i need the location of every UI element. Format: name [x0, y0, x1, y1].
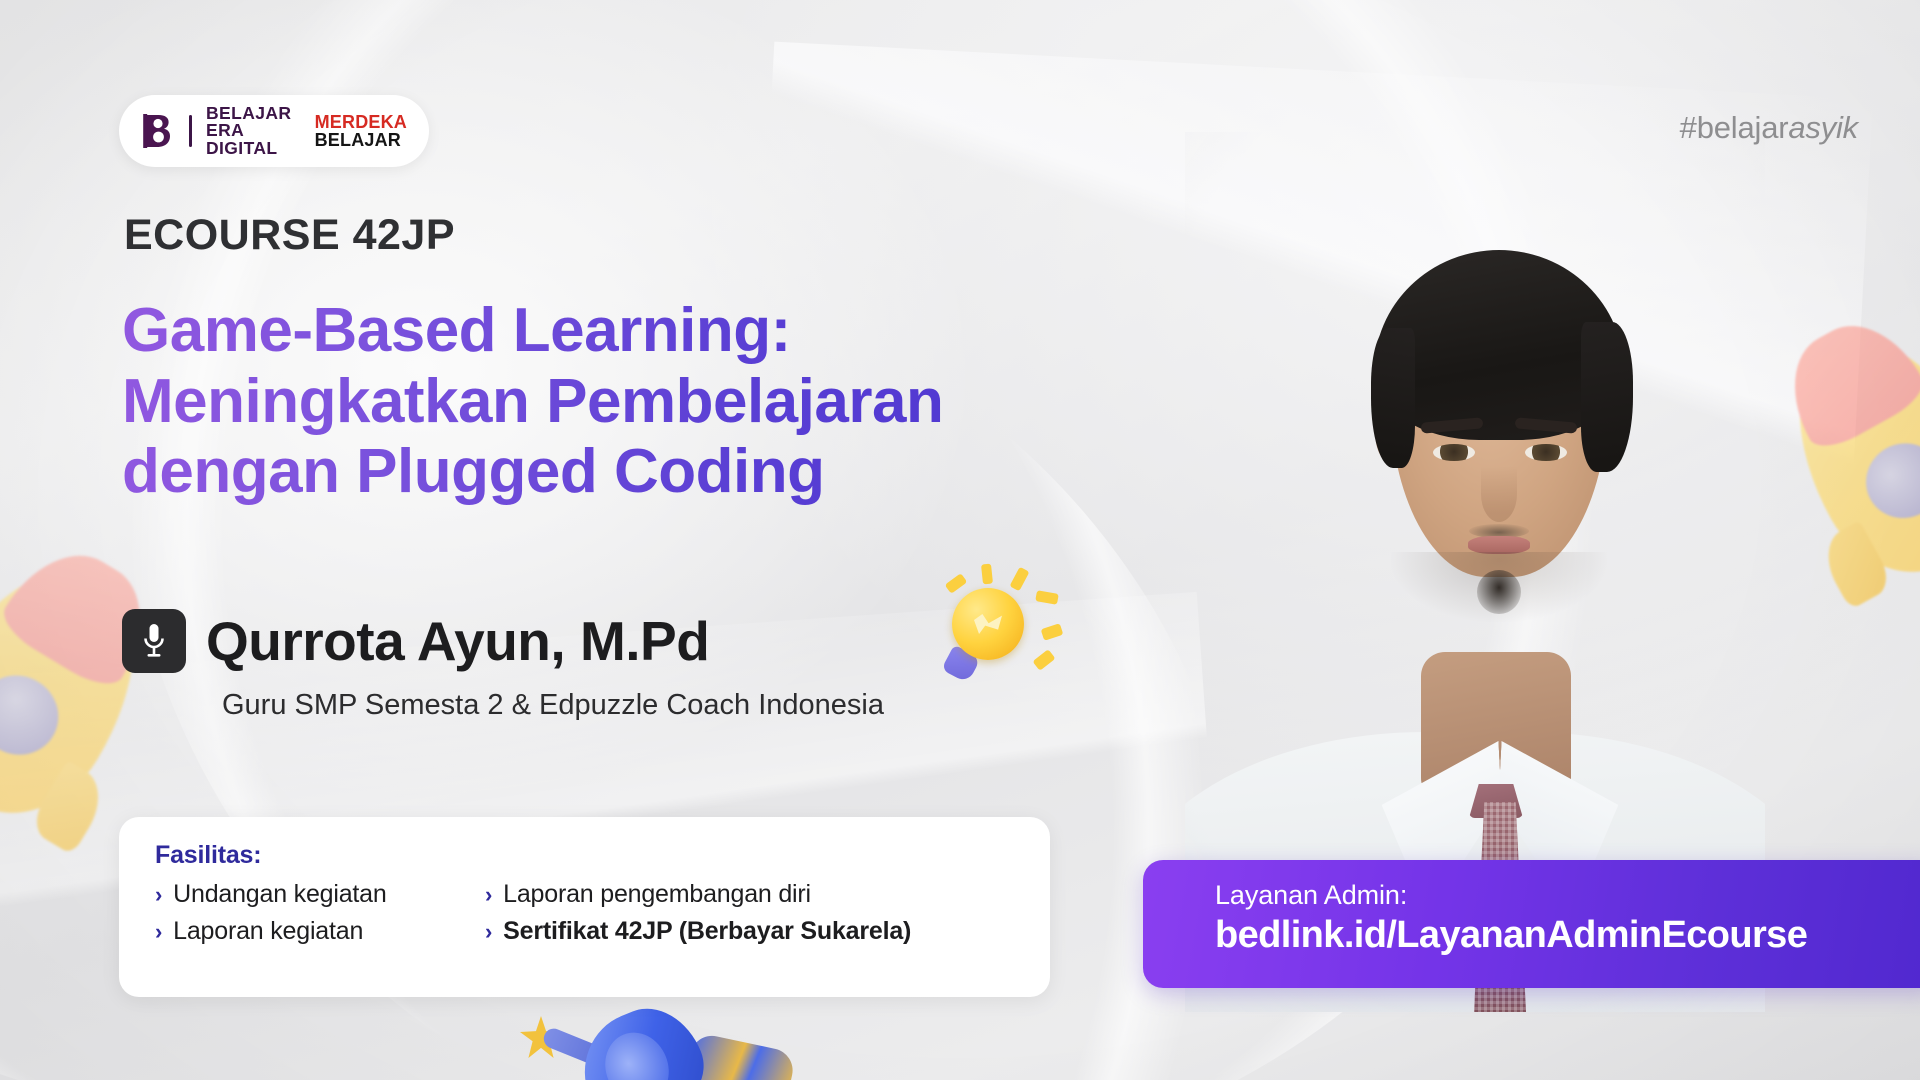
facilities-list: › Undangan kegiatan › Laporan pengembang… — [155, 880, 1014, 946]
speaker-name: Qurrota Ayun, M.Pd — [206, 609, 709, 673]
facilities-title: Fasilitas: — [155, 841, 1014, 870]
list-item-label: Laporan pengembangan diri — [503, 880, 811, 909]
microphone-icon — [122, 609, 186, 673]
admin-service-bar[interactable]: Layanan Admin: bedlink.id/LayananAdminEc… — [1143, 860, 1920, 988]
speaker-block: Qurrota Ayun, M.Pd — [122, 609, 709, 673]
logo-line-2: ERA DIGITAL — [206, 122, 295, 157]
list-item: › Laporan kegiatan — [155, 917, 485, 946]
megaphone-icon — [520, 1002, 800, 1080]
list-item-label: Laporan kegiatan — [173, 917, 363, 946]
list-item-label: Sertifikat 42JP (Berbayar Sukarela) — [503, 917, 911, 946]
page-title-line-3: dengan Plugged Coding — [122, 437, 1252, 508]
merdeka-belajar-logo: MERDEKA BELAJAR — [315, 113, 407, 149]
brand-logo[interactable]: BELAJAR ERA DIGITAL MERDEKA BELAJAR — [119, 95, 429, 167]
merdeka-line-1: MERDEKA — [315, 113, 407, 131]
admin-service-link[interactable]: bedlink.id/LayananAdminEcourse — [1215, 914, 1920, 957]
list-item: › Sertifikat 42JP (Berbayar Sukarela) — [485, 917, 1014, 946]
list-item: › Undangan kegiatan — [155, 880, 485, 909]
speaker-role: Guru SMP Semesta 2 & Edpuzzle Coach Indo… — [222, 687, 922, 723]
merdeka-line-2: BELAJAR — [315, 131, 407, 149]
list-item-label: Undangan kegiatan — [173, 880, 386, 909]
list-item: › Laporan pengembangan diri — [485, 880, 1014, 909]
facilities-card: Fasilitas: › Undangan kegiatan › Laporan… — [119, 817, 1050, 997]
page-title-line-1: Game-Based Learning: — [122, 296, 1252, 367]
page-title-line-2: Meningkatkan Pembelajaran — [122, 367, 1252, 438]
chevron-right-icon: › — [485, 882, 492, 908]
lightbulb-icon — [938, 566, 1068, 682]
b-monogram-icon — [141, 113, 175, 149]
logo-divider — [189, 115, 192, 147]
hashtag: #belajarasyik — [1680, 110, 1858, 146]
chevron-right-icon: › — [485, 919, 492, 945]
logo-wordmark: BELAJAR ERA DIGITAL — [206, 105, 295, 158]
course-label: ECOURSE 42JP — [124, 211, 455, 260]
chevron-right-icon: › — [155, 919, 162, 945]
page-title: Game-Based Learning: Meningkatkan Pembel… — [122, 296, 1252, 508]
chevron-right-icon: › — [155, 882, 162, 908]
hashtag-prefix: #belajar — [1680, 110, 1789, 145]
hashtag-italic: asyik — [1788, 110, 1858, 145]
admin-service-label: Layanan Admin: — [1215, 880, 1920, 911]
